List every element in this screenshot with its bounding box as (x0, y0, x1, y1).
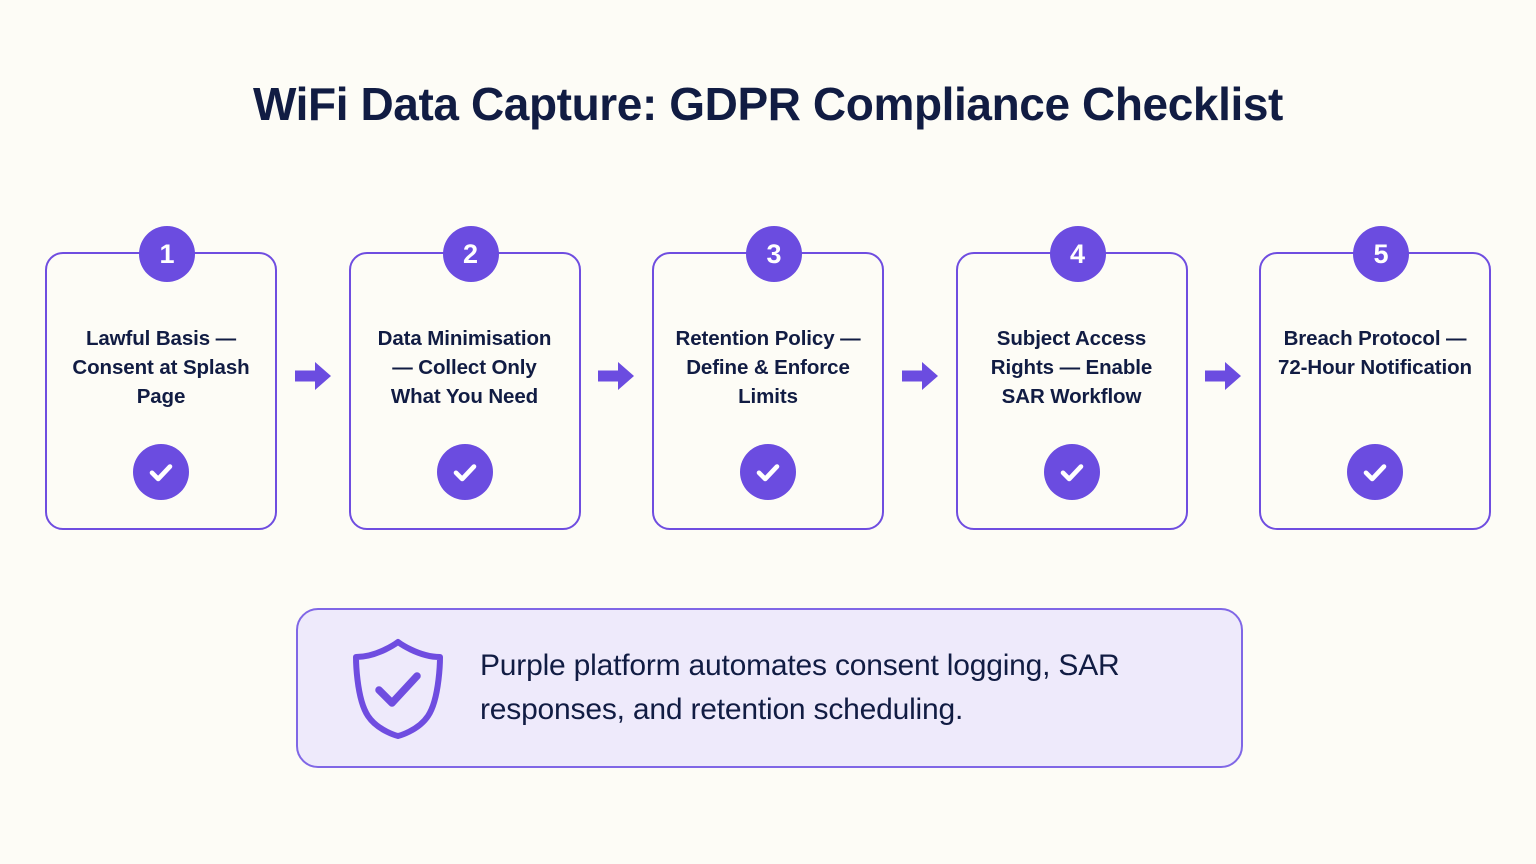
summary-callout-text: Purple platform automates consent loggin… (480, 644, 1210, 732)
check-icon (133, 444, 189, 500)
check-icon (1347, 444, 1403, 500)
checklist-steps: 1 Lawful Basis — Consent at Splash Page … (45, 218, 1491, 530)
step-label-1: Lawful Basis — Consent at Splash Page (63, 324, 259, 411)
step-card-3: 3 Retention Policy — Define & Enforce Li… (652, 252, 884, 530)
step-number-badge-5: 5 (1353, 226, 1409, 282)
check-icon (1044, 444, 1100, 500)
step-number-badge-1: 1 (139, 226, 195, 282)
step-number-badge-3: 3 (746, 226, 802, 282)
step-label-3: Retention Policy — Define & Enforce Limi… (670, 324, 866, 411)
step-card-5: 5 Breach Protocol — 72-Hour Notification (1259, 252, 1491, 530)
shield-check-icon (350, 636, 446, 740)
step-label-4: Subject Access Rights — Enable SAR Workf… (974, 324, 1170, 411)
check-icon (437, 444, 493, 500)
step-card-1: 1 Lawful Basis — Consent at Splash Page (45, 252, 277, 530)
check-icon (740, 444, 796, 500)
arrow-right-icon (1205, 361, 1241, 391)
arrow-right-icon (598, 361, 634, 391)
step-number-badge-2: 2 (443, 226, 499, 282)
step-number-badge-4: 4 (1050, 226, 1106, 282)
step-label-5: Breach Protocol — 72-Hour Notification (1277, 324, 1473, 382)
step-card-2: 2 Data Minimisation — Collect Only What … (349, 252, 581, 530)
summary-callout: Purple platform automates consent loggin… (296, 608, 1243, 768)
step-card-4: 4 Subject Access Rights — Enable SAR Wor… (956, 252, 1188, 530)
arrow-right-icon (902, 361, 938, 391)
arrow-right-icon (295, 361, 331, 391)
page-title: WiFi Data Capture: GDPR Compliance Check… (0, 78, 1536, 131)
step-label-2: Data Minimisation — Collect Only What Yo… (367, 324, 563, 411)
